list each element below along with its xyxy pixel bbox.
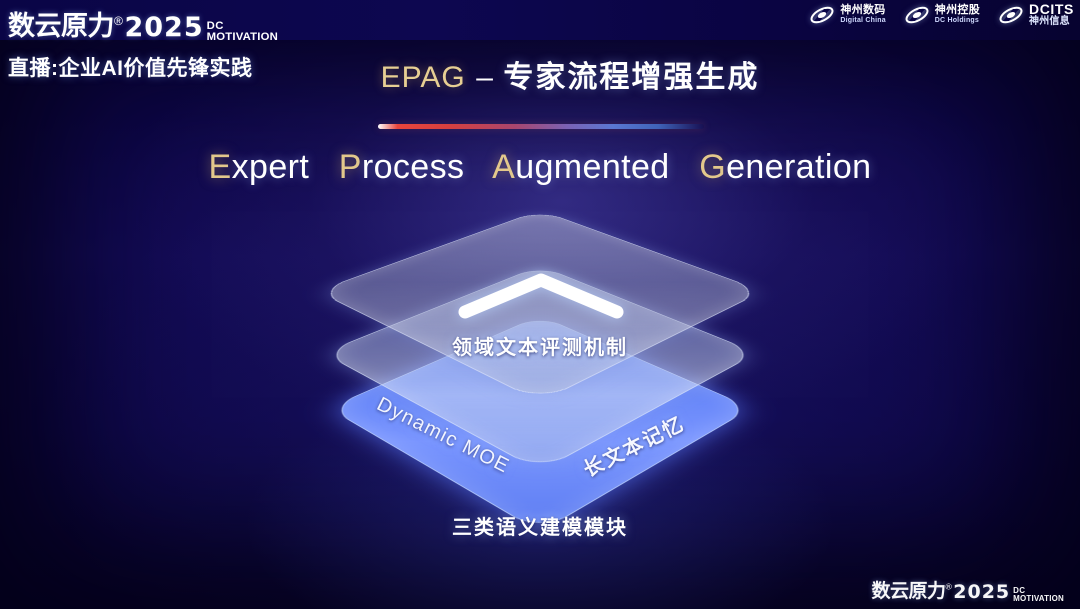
brand-year: 2025 (953, 581, 1010, 603)
title-acronym: EPAG (381, 61, 466, 94)
swoosh-icon (904, 4, 930, 26)
brand-motivation-line: MOTIVATION (207, 32, 278, 43)
brand-motivation-line: MOTIVATION (1013, 595, 1064, 603)
subtitle-initial: E (209, 148, 232, 186)
brand-dc-motivation: DC MOTIVATION (1013, 587, 1064, 603)
subtitle-space (319, 148, 329, 186)
partner-label: DCITS 神州信息 (1029, 2, 1074, 27)
partner-logo-group: 神州数码 Digital China 神州控股 DC Holdings (809, 2, 1074, 27)
subtitle-initial: A (492, 148, 515, 186)
swoosh-icon (809, 4, 835, 26)
brand-logo-top-left: 数云原力® 2025 DC MOTIVATION (8, 4, 278, 43)
subtitle-word: Process (339, 148, 465, 186)
title-cn: 专家流程增强生成 (503, 61, 759, 94)
partner-label: 神州控股 DC Holdings (935, 5, 980, 24)
brand-name-cn: 数云原力® (8, 4, 122, 43)
subtitle-initial: G (699, 148, 726, 186)
subtitle-word: Generation (699, 148, 871, 186)
subtitle-remainder: ugmented (515, 148, 669, 186)
brand-year: 2025 (124, 12, 203, 43)
brand-name-cn: 数云原力® (871, 576, 951, 603)
subtitle-remainder: rocess (362, 148, 465, 186)
partner-name-en: Digital China (840, 17, 885, 24)
brand-dc-motivation: DC MOTIVATION (207, 21, 278, 43)
partner-name-en: DC Holdings (935, 17, 980, 24)
subtitle-word: Expert (209, 148, 310, 186)
slide-stage: 数云原力® 2025 DC MOTIVATION 直播:企业AI价值先锋实践 神… (0, 0, 1080, 609)
title-dash: – (476, 61, 493, 94)
partner-label: 神州数码 Digital China (840, 5, 885, 24)
brand-logo-bottom-right: 数云原力® 2025 DC MOTIVATION (871, 576, 1064, 603)
partner-logo-dcits: DCITS 神州信息 (998, 2, 1074, 27)
subtitle-remainder: eneration (726, 148, 871, 186)
partner-name-cn: 神州数码 (840, 5, 885, 17)
subtitle-initial: P (339, 148, 362, 186)
partner-logo-dc-holdings: 神州控股 DC Holdings (904, 4, 980, 26)
subtitle-expansion: Expert Process Augmented Generation (0, 148, 1080, 187)
layered-architecture-diagram (300, 218, 780, 598)
live-broadcast-title: 直播:企业AI价值先锋实践 (8, 52, 253, 82)
diagram-label-bottom: 三类语义建模模块 (0, 511, 1080, 540)
registered-mark: ® (114, 14, 122, 28)
swoosh-icon (998, 4, 1024, 26)
partner-name-cn: 神州控股 (935, 5, 980, 17)
partner-name-en: DCITS (1029, 2, 1074, 17)
registered-mark: ® (945, 582, 951, 592)
subtitle-remainder: xpert (232, 148, 310, 186)
partner-logo-digital-china: 神州数码 Digital China (809, 4, 885, 26)
partner-name-cn: 神州信息 (1029, 17, 1074, 28)
subtitle-space (474, 148, 484, 186)
subtitle-word: Augmented (492, 148, 670, 186)
subtitle-space (679, 148, 689, 186)
accent-divider (378, 124, 704, 129)
diagram-label-top: 领域文本评测机制 (0, 331, 1080, 360)
